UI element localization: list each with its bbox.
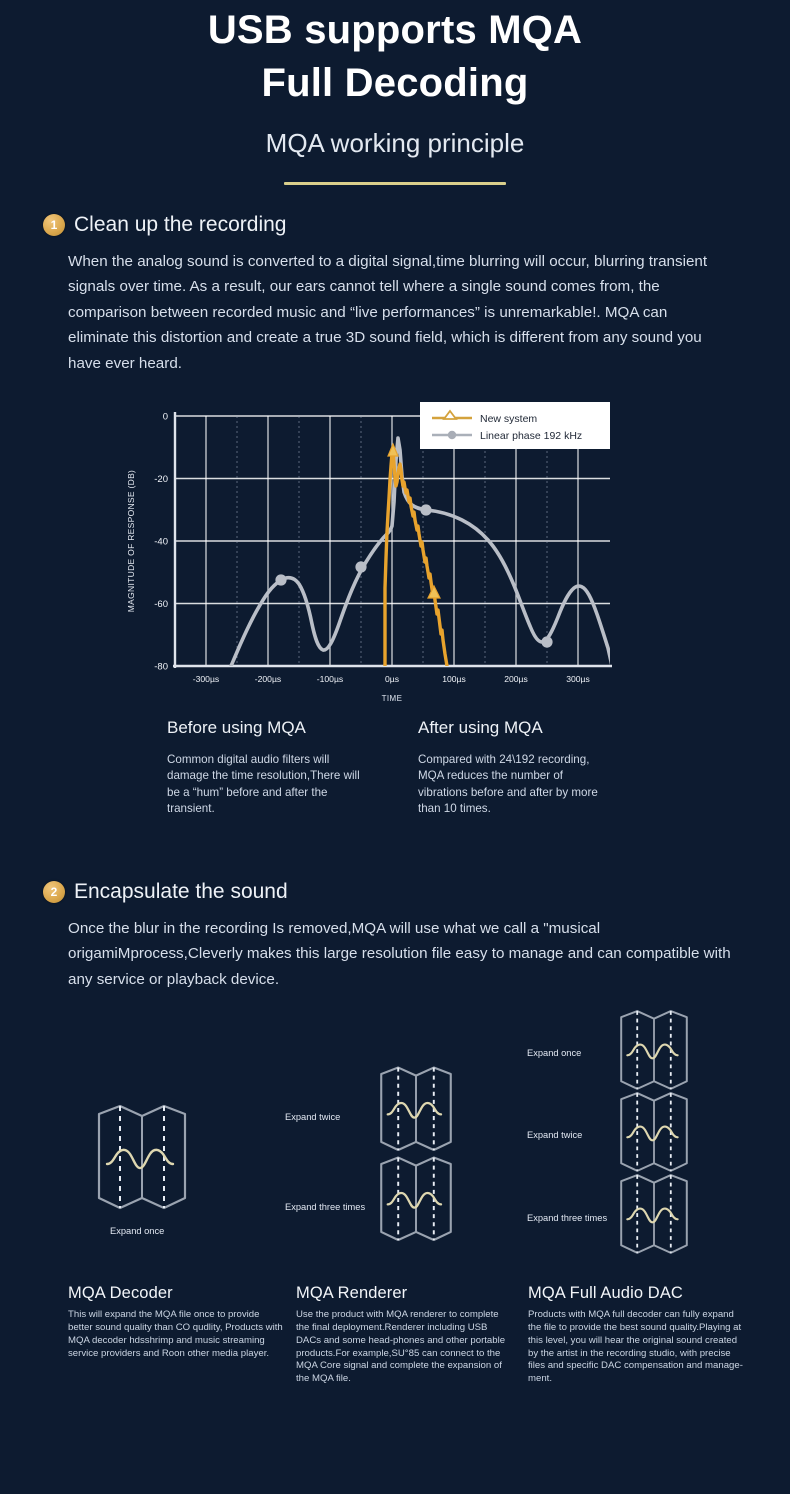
section-2-title: Encapsulate the sound — [74, 880, 288, 904]
legend-label-linear-phase: Linear phase 192 kHz — [480, 430, 582, 442]
folded-map-icon — [616, 1172, 692, 1262]
section-1-body: When the analog sound is converted to a … — [0, 249, 790, 376]
svg-text:-100µs: -100µs — [317, 674, 343, 684]
impulse-response-chart: MAGNITUDE OF RESPONSE (DB) — [0, 398, 790, 716]
svg-text:-80: -80 — [154, 662, 168, 673]
origami-label-col2-three: Expand three times — [285, 1202, 365, 1212]
chart-captions-row: Before using MQA Common digital audio fi… — [0, 718, 790, 868]
svg-text:-40: -40 — [154, 537, 168, 548]
origami-icon-col2-three — [378, 1154, 454, 1255]
chart-x-axis-title: TIME — [382, 694, 403, 703]
origami-label-col3-once: Expand once — [527, 1048, 581, 1058]
legend-label-new-system: New system — [480, 413, 537, 425]
card-mqa-decoder-text: This will expand the MQA file once to pr… — [68, 1309, 283, 1360]
chart-legend: New system Linear phase 192 kHz — [420, 402, 610, 449]
origami-icon-col3-three — [616, 1172, 692, 1267]
svg-text:200µs: 200µs — [504, 674, 528, 684]
page-root: USB supports MQA Full Decoding MQA worki… — [0, 0, 790, 1494]
chart-x-tick-labels: -300µs -200µs -100µs 0µs 100µs 200µs 300… — [193, 674, 590, 684]
svg-text:-200µs: -200µs — [255, 674, 281, 684]
origami-icon-col3-twice — [616, 1090, 692, 1185]
origami-label-col1-once: Expand once — [110, 1226, 164, 1236]
chart-caption-after: After using MQA Compared with 24\192 rec… — [418, 718, 608, 818]
section-2-heading: 2 Encapsulate the sound — [0, 880, 790, 904]
chart-caption-after-heading: After using MQA — [418, 718, 608, 738]
svg-text:-300µs: -300µs — [193, 674, 219, 684]
svg-text:-60: -60 — [154, 599, 168, 610]
card-mqa-full-audio-dac-text: Products with MQA full decoder can fully… — [528, 1309, 743, 1386]
card-mqa-renderer: MQA Renderer Use the product with MQA re… — [296, 1284, 511, 1386]
card-mqa-full-audio-dac-heading: MQA Full Audio DAC — [528, 1284, 743, 1303]
chart-y-axis-title: MAGNITUDE OF RESPONSE (DB) — [126, 470, 136, 612]
folded-map-icon — [616, 1008, 692, 1098]
page-subtitle: MQA working principle — [0, 128, 790, 159]
origami-label-col3-three: Expand three times — [527, 1213, 607, 1223]
section-1-title: Clean up the recording — [74, 213, 286, 237]
section-2-number-badge: 2 — [43, 881, 65, 903]
chart-y-tick-labels: 0 -20 -40 -60 -80 — [154, 412, 168, 673]
chart-caption-before-heading: Before using MQA — [167, 718, 367, 738]
chart-svg: MAGNITUDE OF RESPONSE (DB) — [120, 398, 640, 716]
svg-text:-20: -20 — [154, 474, 168, 485]
card-mqa-renderer-text: Use the product with MQA renderer to com… — [296, 1309, 511, 1386]
chart-series-linear-phase — [231, 438, 612, 666]
origami-label-col3-twice: Expand twice — [527, 1130, 582, 1140]
chart-series-new-system — [385, 450, 447, 666]
origami-icon-col2-twice — [378, 1064, 454, 1165]
section-encapsulate-the-sound: 2 Encapsulate the sound Once the blur in… — [0, 880, 790, 992]
header-divider — [284, 182, 506, 185]
svg-text:0: 0 — [163, 412, 168, 423]
bottom-cards-row: MQA Decoder This will expand the MQA fil… — [0, 1284, 790, 1454]
page-header: USB supports MQA Full Decoding MQA worki… — [0, 0, 790, 185]
origami-label-col2-twice: Expand twice — [285, 1112, 340, 1122]
svg-text:100µs: 100µs — [442, 674, 466, 684]
svg-text:0µs: 0µs — [385, 674, 399, 684]
page-title-line-2: Full Decoding — [0, 57, 790, 110]
card-mqa-decoder-heading: MQA Decoder — [68, 1284, 283, 1303]
folded-map-icon — [95, 1102, 189, 1220]
section-1-number-badge: 1 — [43, 214, 65, 236]
folded-map-icon — [378, 1154, 454, 1250]
origami-icon-col3-once — [616, 1008, 692, 1103]
origami-icon-col1-once — [95, 1102, 189, 1225]
chart-caption-before: Before using MQA Common digital audio fi… — [167, 718, 367, 818]
card-mqa-decoder: MQA Decoder This will expand the MQA fil… — [68, 1284, 283, 1360]
card-mqa-full-audio-dac: MQA Full Audio DAC Products with MQA ful… — [528, 1284, 743, 1386]
section-clean-up-the-recording: 1 Clean up the recording When the analog… — [0, 213, 790, 376]
chart-caption-after-text: Compared with 24\192 recording, MQA redu… — [418, 752, 608, 818]
svg-text:300µs: 300µs — [566, 674, 590, 684]
card-mqa-renderer-heading: MQA Renderer — [296, 1284, 511, 1303]
page-title-line-1: USB supports MQA — [0, 4, 790, 57]
chart-caption-before-text: Common digital audio filters will damage… — [167, 752, 367, 818]
origami-diagram-area: Expand once Expand twice Expand three ti… — [0, 1002, 790, 1284]
folded-map-icon — [616, 1090, 692, 1180]
section-2-body: Once the blur in the recording Is remove… — [0, 916, 790, 992]
section-1-heading: 1 Clean up the recording — [0, 213, 790, 237]
folded-map-icon — [378, 1064, 454, 1160]
